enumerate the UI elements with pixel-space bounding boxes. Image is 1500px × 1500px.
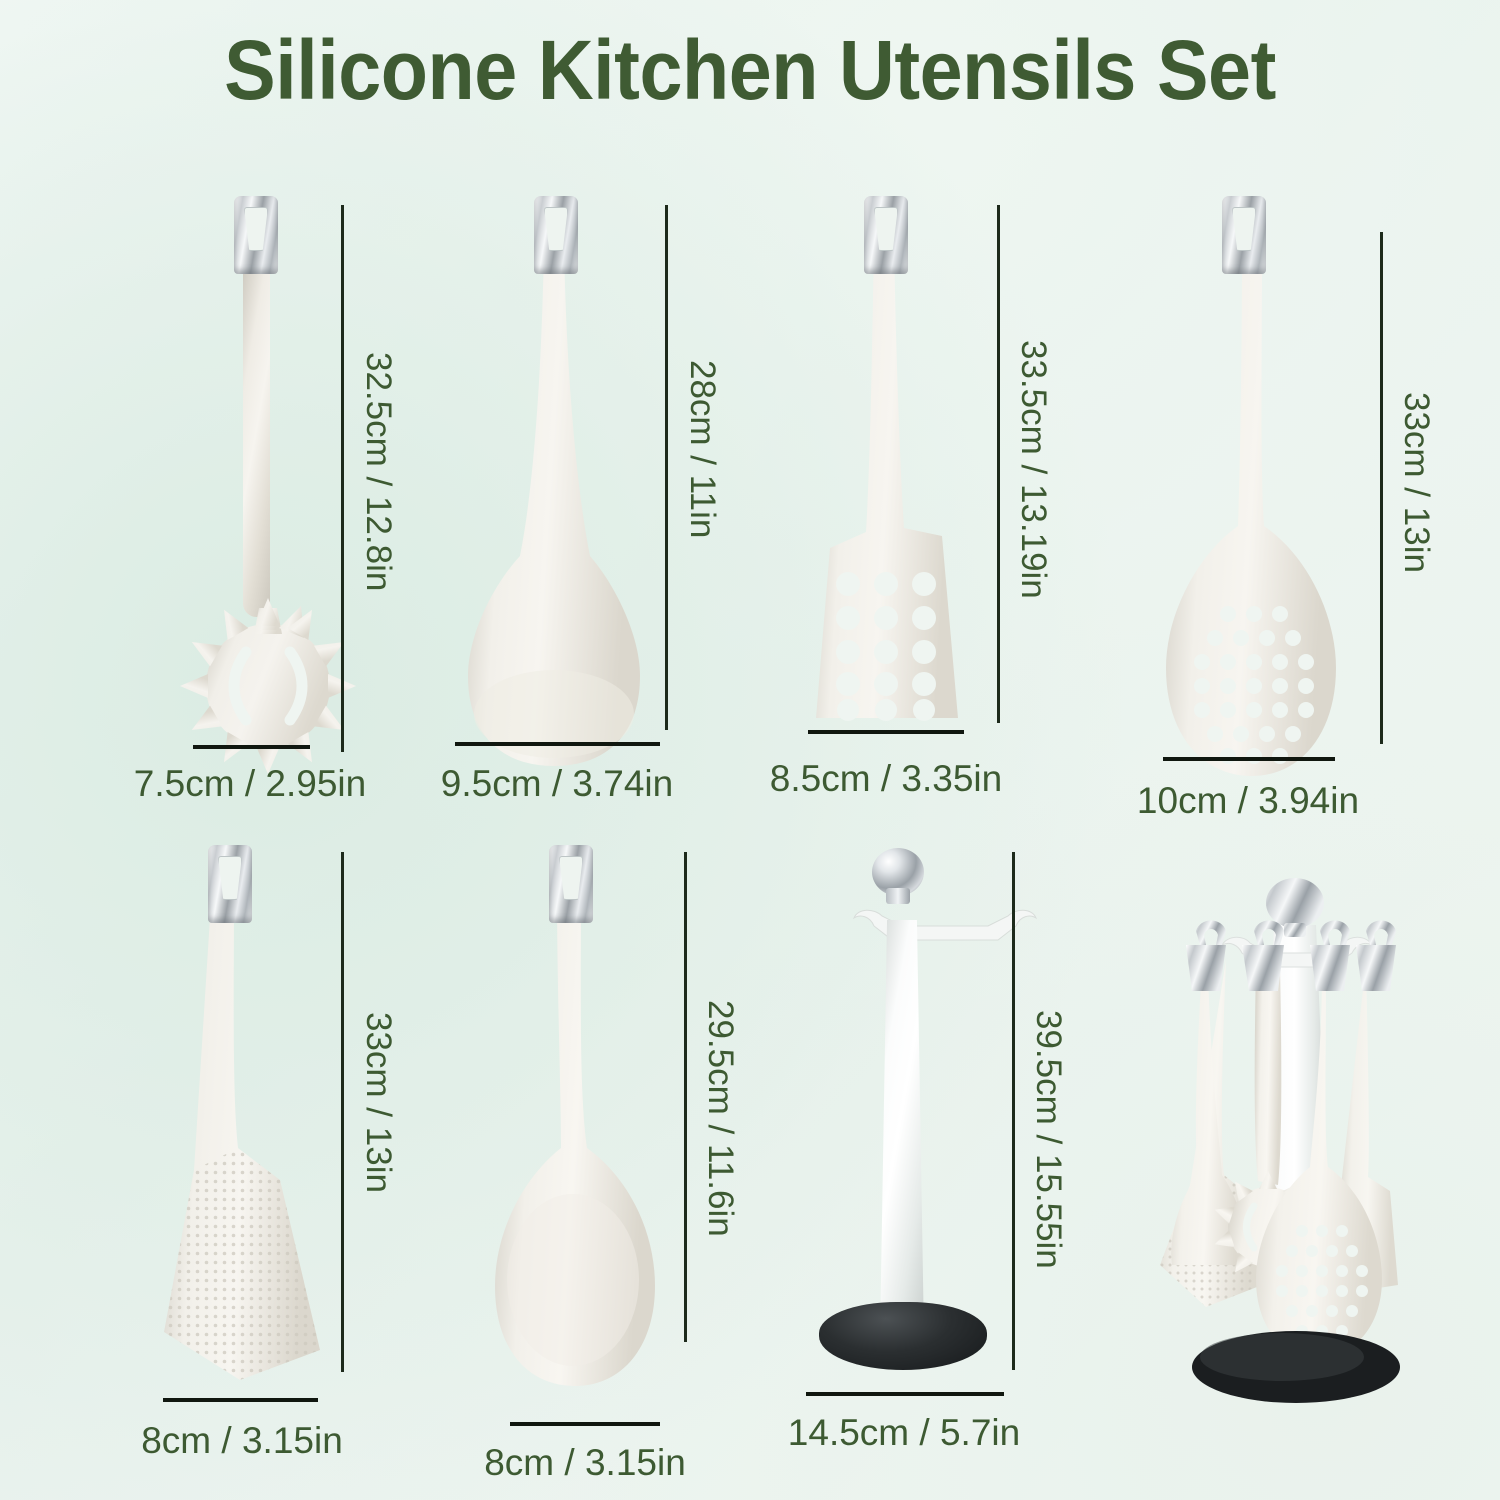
width-dimension-line [808, 730, 964, 734]
pasta-server-icon [243, 262, 270, 617]
hanging-loop-icon [234, 196, 278, 274]
hanging-loop-icon [864, 196, 908, 274]
length-dimension-line [341, 205, 344, 752]
length-label: 33cm / 13in [358, 1012, 398, 1193]
hanging-loop-icon [549, 845, 593, 923]
serving-spoon-icon [465, 880, 695, 1440]
stand-hooks-icon [848, 896, 1048, 966]
width-label: 10cm / 3.94in [1098, 780, 1398, 822]
length-label: 32.5cm / 12.8in [358, 352, 398, 591]
width-dimension-line [193, 745, 310, 749]
width-label: 9.5cm / 3.74in [407, 763, 707, 805]
width-dimension-line [806, 1392, 1004, 1396]
soup-ladle-icon [440, 236, 670, 796]
hanging-loop-icon [1222, 196, 1266, 274]
width-dimension-line [1163, 757, 1335, 761]
length-dimension-line [684, 852, 687, 1342]
page-title: Silicone Kitchen Utensils Set [60, 28, 1440, 112]
assembled-set-icon [1150, 845, 1450, 1435]
hanging-loop-icon [534, 196, 578, 274]
length-label: 28cm / 11in [682, 360, 722, 538]
length-dimension-line [997, 205, 1000, 723]
width-label: 8cm / 3.15in [435, 1442, 735, 1484]
skimmer-spoon-icon [1130, 236, 1370, 806]
length-dimension-line [341, 852, 344, 1372]
length-label: 29.5cm / 11.6in [700, 1000, 740, 1237]
length-label: 33cm / 13in [1396, 392, 1436, 573]
hanging-loop-icon [208, 845, 252, 923]
length-dimension-line [1012, 852, 1015, 1370]
pasta-head-icon [178, 588, 358, 778]
width-label: 8cm / 3.15in [92, 1420, 392, 1462]
width-label: 7.5cm / 2.95in [100, 763, 400, 805]
fish-turner-icon [130, 880, 370, 1460]
width-dimension-line [510, 1422, 660, 1426]
width-label: 8.5cm / 3.35in [736, 758, 1036, 800]
length-label: 33.5cm / 13.19in [1013, 340, 1053, 599]
stand-base-icon [819, 1302, 987, 1370]
slotted-turner-icon [790, 236, 1010, 816]
stand-column [880, 920, 924, 1338]
width-dimension-line [455, 742, 660, 746]
length-label: 39.5cm / 15.55in [1028, 1010, 1068, 1269]
width-label: 14.5cm / 5.7in [744, 1412, 1064, 1454]
length-dimension-line [1380, 232, 1383, 744]
length-dimension-line [665, 205, 668, 730]
width-dimension-line [163, 1398, 318, 1402]
